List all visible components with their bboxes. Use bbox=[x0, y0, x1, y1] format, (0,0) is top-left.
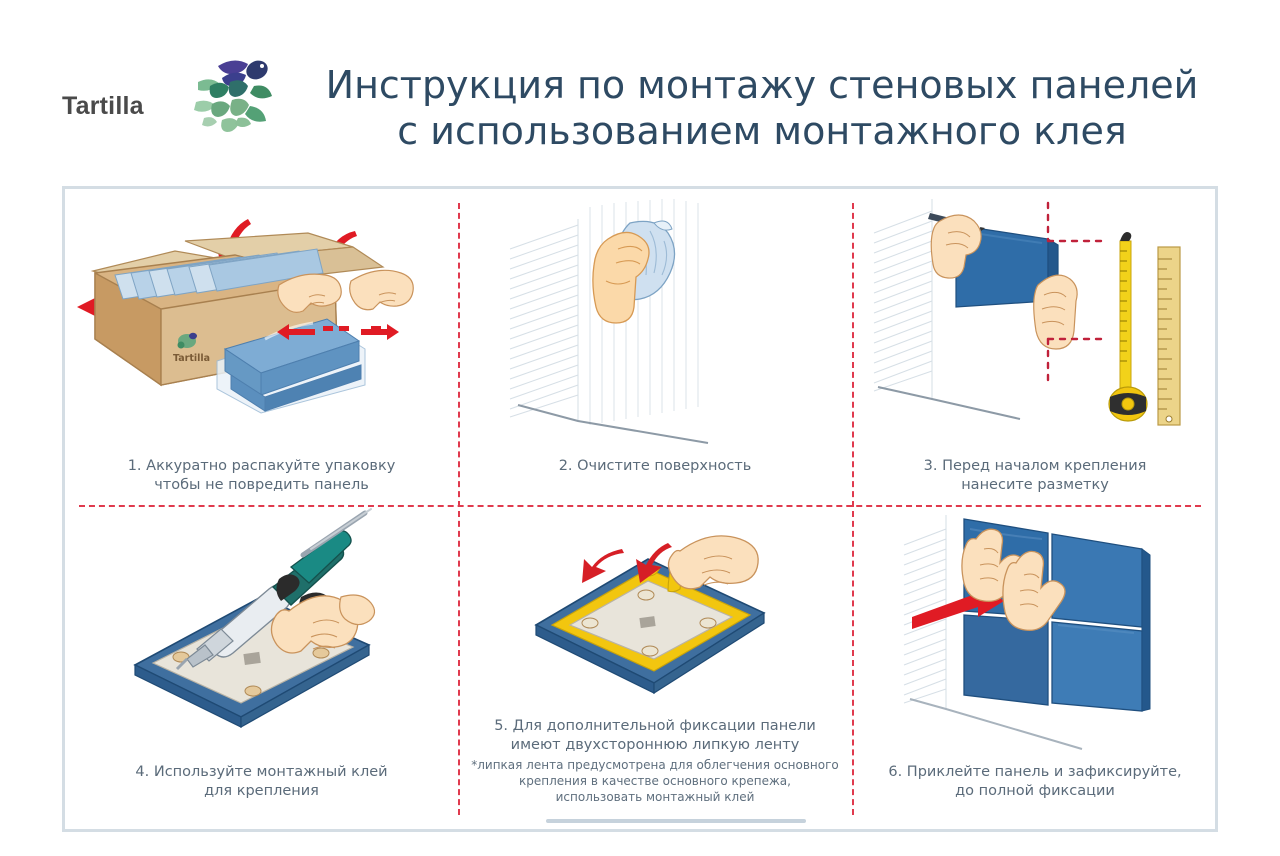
step-4-caption-line-1: 4. Используйте монтажный клей bbox=[135, 764, 387, 780]
step-5-note-line-2: крепления в качестве основного крепежа, bbox=[519, 774, 791, 788]
step-3-illustration bbox=[852, 189, 1218, 439]
step-1-caption-line-2: чтобы не повредить панель bbox=[154, 477, 369, 493]
step-5-caption: 5. Для дополнительной фиксации панели им… bbox=[458, 717, 852, 755]
step-3-caption-line-2: нанесите разметку bbox=[961, 477, 1109, 493]
page-title-line-1: Инструкция по монтажу стеновых панелей bbox=[326, 63, 1199, 107]
step-2-caption-line-1: 2. Очистите поверхность bbox=[559, 458, 752, 474]
step-4-illustration bbox=[65, 505, 458, 745]
step-5-note: *липкая лента предусмотрена для облегчен… bbox=[458, 757, 852, 805]
step-4-caption-line-2: для крепления bbox=[204, 783, 319, 799]
page-title: Инструкция по монтажу стеновых панелей с… bbox=[282, 62, 1242, 154]
step-cell-5: 5. Для дополнительной фиксации панели им… bbox=[458, 505, 852, 829]
step-5-caption-line-2: имеют двухстороннюю липкую ленту bbox=[511, 737, 800, 753]
step-cell-2: 2. Очистите поверхность bbox=[458, 189, 852, 505]
step-2-caption: 2. Очистите поверхность bbox=[458, 457, 852, 476]
step-5-note-line-3: использовать монтажный клей bbox=[556, 790, 755, 804]
step-5-note-line-1: *липкая лента предусмотрена для облегчен… bbox=[471, 758, 839, 772]
step-6-caption: 6. Приклейте панель и зафиксируйте, до п… bbox=[852, 763, 1218, 801]
step-3-caption: 3. Перед началом крепления нанесите разм… bbox=[852, 457, 1218, 495]
step-cell-3: 3. Перед началом крепления нанесите разм… bbox=[852, 189, 1218, 505]
step-1-caption: 1. Аккуратно распакуйте упаковку чтобы н… bbox=[65, 457, 458, 495]
steps-grid: Tartilla bbox=[65, 189, 1215, 829]
step-2-illustration bbox=[458, 189, 852, 439]
svg-text:Tartilla: Tartilla bbox=[173, 353, 210, 364]
step-cell-4: 4. Используйте монтажный клей для крепле… bbox=[65, 505, 458, 829]
step-6-caption-line-2: до полной фиксации bbox=[955, 783, 1115, 799]
bottom-accent-bar bbox=[546, 819, 806, 823]
page-title-line-2: с использованием монтажного клея bbox=[282, 108, 1242, 154]
step-1-illustration: Tartilla bbox=[65, 189, 458, 429]
step-1-caption-line-1: 1. Аккуратно распакуйте упаковку bbox=[128, 458, 396, 474]
step-5-illustration bbox=[458, 505, 852, 705]
page-header: Tartilla Инструкция по монтажу стен bbox=[0, 0, 1280, 180]
brand-name: Tartilla bbox=[62, 92, 144, 121]
step-6-illustration bbox=[852, 505, 1218, 755]
step-3-caption-line-1: 3. Перед началом крепления bbox=[924, 458, 1147, 474]
step-4-caption: 4. Используйте монтажный клей для крепле… bbox=[65, 763, 458, 801]
step-cell-1: Tartilla bbox=[65, 189, 458, 505]
instruction-panel-frame: Tartilla bbox=[62, 186, 1218, 832]
turtle-logo-icon bbox=[188, 48, 280, 140]
step-cell-6: 6. Приклейте панель и зафиксируйте, до п… bbox=[852, 505, 1218, 829]
step-5-caption-line-1: 5. Для дополнительной фиксации панели bbox=[494, 718, 816, 734]
step-6-caption-line-1: 6. Приклейте панель и зафиксируйте, bbox=[888, 764, 1181, 780]
